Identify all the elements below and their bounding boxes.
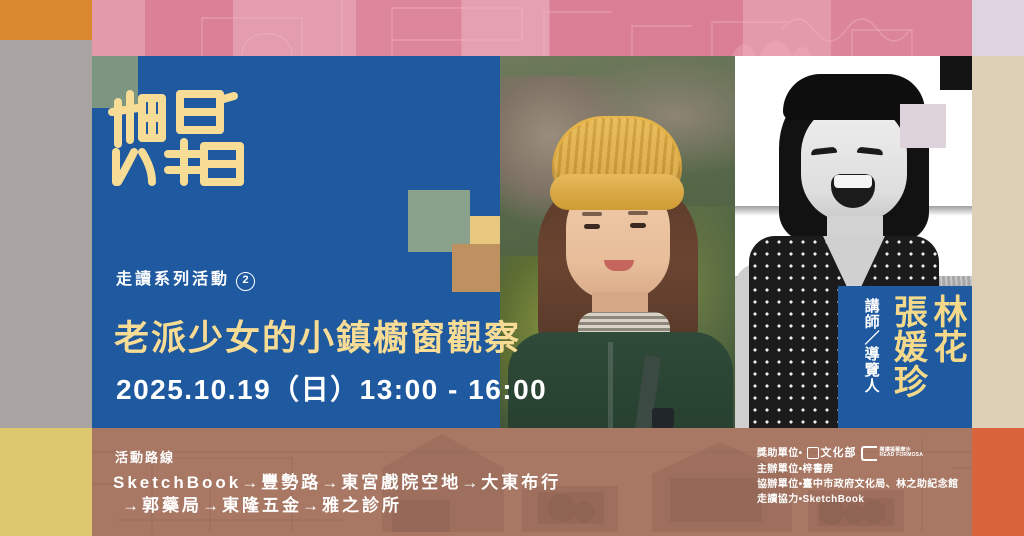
seal-icon (807, 447, 819, 459)
top-pink-band (92, 0, 972, 56)
series-number-badge: 2 (236, 272, 255, 291)
brand-logo-mark (108, 82, 258, 186)
right-beige-plate (972, 56, 1024, 428)
left-grey-plate (0, 40, 92, 428)
poster-title: 老派少女的小鎮櫥窗觀察 (114, 310, 521, 361)
read-formosa-line-2: READ FORMOSA (880, 452, 924, 458)
speaker-name-box: 林花 張媛珍 講師／導覽人 (838, 286, 972, 428)
poster-datetime: 2025.10.19（日）13:00 - 16:00 (116, 368, 547, 408)
series-label-row: 走讀系列活動2 (116, 265, 255, 291)
speaker-name-primary: 張媛珍 (890, 294, 925, 399)
grant-label: 獎助單位• (757, 446, 803, 461)
ministry-of-culture-logo: 文化部 (807, 445, 857, 462)
credits-organiser: 主辦單位•梓書房 (757, 462, 972, 477)
speaker-role-label: 講師／導覽人 (862, 298, 879, 394)
black-square (940, 56, 972, 90)
lilac-square (900, 104, 946, 148)
credits-walk-partner: 走讀協力•SketchBook (757, 492, 972, 507)
ministry-of-culture-wordmark: 文化部 (821, 445, 857, 462)
speaker-name-secondary: 林花 (929, 294, 964, 364)
credits-grant-row: 獎助單位• 文化部 閱讀福爾摩沙 READ FORMOSA (757, 445, 972, 462)
sage-square (408, 190, 470, 252)
series-label: 走讀系列活動 (116, 271, 230, 288)
read-formosa-logo: 閱讀福爾摩沙 READ FORMOSA (861, 446, 924, 461)
top-right-lilac-plate (972, 0, 1024, 56)
route-label: 活動路線 (115, 447, 175, 466)
route-line-1: SketchBook→豐勢路→東宮戲院空地→大東布行 (113, 468, 561, 493)
top-left-orange-plate (0, 0, 92, 40)
brand-logo (108, 82, 258, 186)
credits-block: 獎助單位• 文化部 閱讀福爾摩沙 READ FORMOSA 主辦單位•梓書房 協… (757, 445, 972, 507)
tan-square (452, 244, 500, 292)
bottom-right-orange-plate (972, 428, 1024, 536)
credits-co-organiser: 協辦單位•臺中市政府文化局、林之助紀念館 (757, 477, 972, 492)
route-line-2: →郭藥局→東隆五金→雅之診所 (122, 491, 402, 516)
read-formosa-mark-icon (861, 446, 877, 461)
read-formosa-wordmark: 閱讀福爾摩沙 READ FORMOSA (880, 448, 924, 459)
event-poster: 林花 張媛珍 講師／導覽人 (0, 0, 1024, 536)
bottom-left-sand-plate (0, 428, 92, 536)
